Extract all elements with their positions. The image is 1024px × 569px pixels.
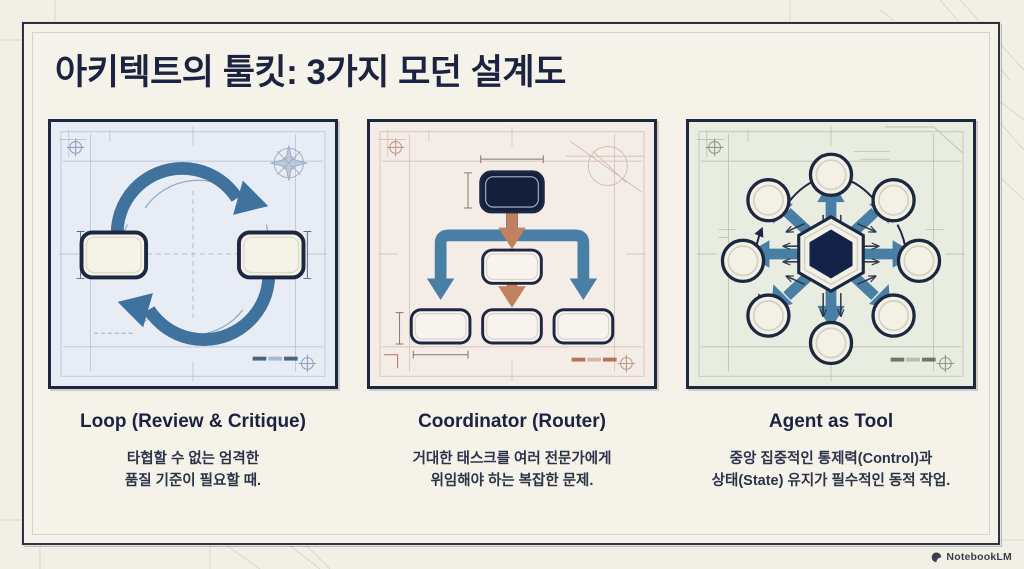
- notebooklm-logo-icon: [931, 552, 942, 563]
- card-title-coordinator: Coordinator (Router): [418, 411, 606, 434]
- card-agent-as-tool[interactable]: Agent as Tool 중앙 집중적인 통제력(Control)과 상태(S…: [686, 119, 976, 519]
- card-desc-agent-as-tool-line1: 중앙 집중적인 통제력(Control)과: [712, 448, 951, 470]
- diagram-panel-loop: [48, 119, 338, 389]
- diagram-panel-agent-as-tool: [686, 119, 976, 389]
- card-desc-coordinator-line1: 거대한 태스크를 여러 전문가에게: [413, 448, 612, 470]
- coordinator-diagram-svg: [370, 122, 654, 386]
- card-desc-agent-as-tool: 중앙 집중적인 통제력(Control)과 상태(State) 유지가 필수적인…: [712, 448, 951, 493]
- card-desc-coordinator: 거대한 태스크를 여러 전문가에게 위임해야 하는 복잡한 문제.: [413, 448, 612, 493]
- card-desc-loop-line1: 타협할 수 없는 엄격한: [125, 448, 261, 470]
- diagram-panel-coordinator: [367, 119, 657, 389]
- card-title-agent-as-tool: Agent as Tool: [769, 411, 893, 434]
- card-title-loop: Loop (Review & Critique): [80, 411, 306, 434]
- agent-as-tool-diagram-svg: [689, 122, 973, 386]
- page-title: 아키텍트의 툴킷: 3가지 모던 설계도: [55, 44, 566, 95]
- card-desc-agent-as-tool-line2: 상태(State) 유지가 필수적인 동적 작업.: [712, 470, 951, 492]
- loop-diagram-svg: [51, 122, 335, 386]
- card-desc-coordinator-line2: 위임해야 하는 복잡한 문제.: [413, 470, 612, 492]
- diagram-card-row: Loop (Review & Critique) 타협할 수 없는 엄격한 품질…: [48, 119, 976, 519]
- card-desc-loop: 타협할 수 없는 엄격한 품질 기준이 필요할 때.: [125, 448, 261, 493]
- card-coordinator[interactable]: Coordinator (Router) 거대한 태스크를 여러 전문가에게 위…: [367, 119, 657, 519]
- card-desc-loop-line2: 품질 기준이 필요할 때.: [125, 470, 261, 492]
- card-loop[interactable]: Loop (Review & Critique) 타협할 수 없는 엄격한 품질…: [48, 119, 338, 519]
- watermark-label: NotebookLM: [946, 551, 1012, 563]
- watermark: NotebookLM: [931, 551, 1012, 563]
